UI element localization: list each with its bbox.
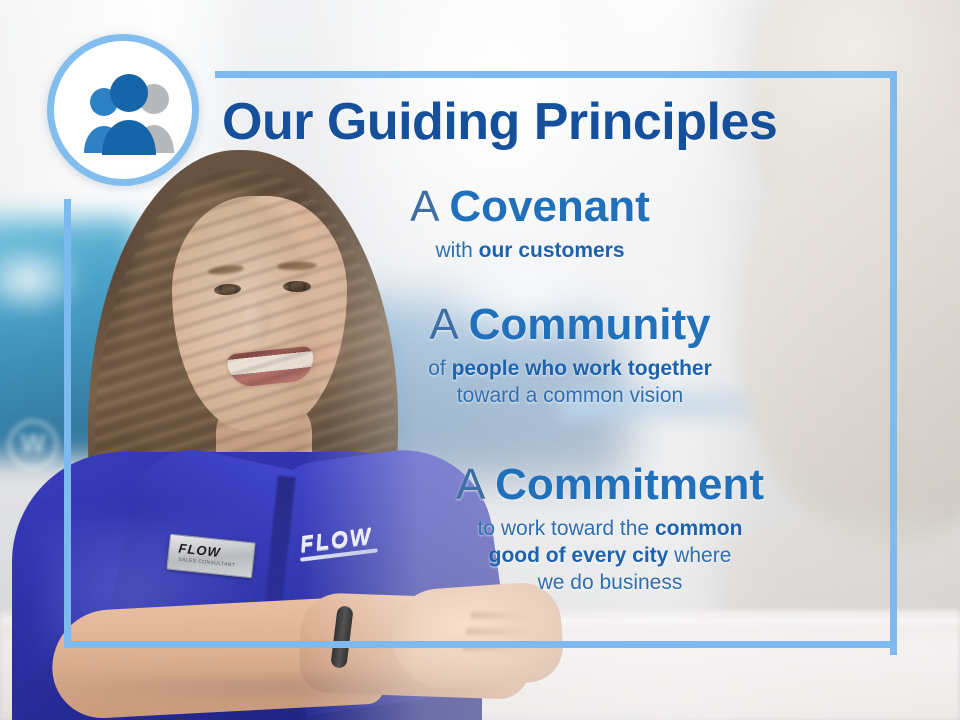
frame-bottom-edge — [64, 641, 897, 648]
principle-subtext: of people who work togethertoward a comm… — [290, 356, 850, 410]
principle-keyword: Commitment — [495, 460, 764, 509]
principle-block-commitment: A Commitment to work toward the commongo… — [330, 462, 890, 597]
principle-heading: A Community — [290, 302, 850, 348]
frame-right-edge — [890, 71, 897, 655]
principle-subtext: to work toward the commongood of every c… — [330, 516, 890, 597]
principle-article: A — [410, 182, 437, 231]
people-group-icon — [76, 69, 184, 165]
principle-subtext: with our customers — [250, 238, 810, 265]
principle-keyword: Covenant — [449, 182, 649, 231]
finger-line-1 — [470, 612, 530, 619]
principle-block-community: A Community of people who work togethert… — [290, 302, 850, 410]
people-group-icon-badge — [47, 34, 199, 186]
principle-article: A — [456, 460, 483, 509]
principle-article: A — [429, 300, 456, 349]
principle-heading: A Commitment — [330, 462, 890, 508]
page-title: Our Guiding Principles — [222, 92, 882, 152]
frame-left-edge — [64, 199, 71, 648]
principle-heading: A Covenant — [250, 184, 810, 230]
frame-top-edge — [215, 71, 897, 78]
principle-keyword: Community — [469, 300, 711, 349]
finger-line-2 — [466, 628, 532, 635]
arm-shadow — [20, 676, 540, 704]
banner-graphic: FLOW SALES CONSULTANT FLOW — [0, 0, 960, 720]
principle-block-covenant: A Covenant with our customers — [250, 184, 810, 265]
